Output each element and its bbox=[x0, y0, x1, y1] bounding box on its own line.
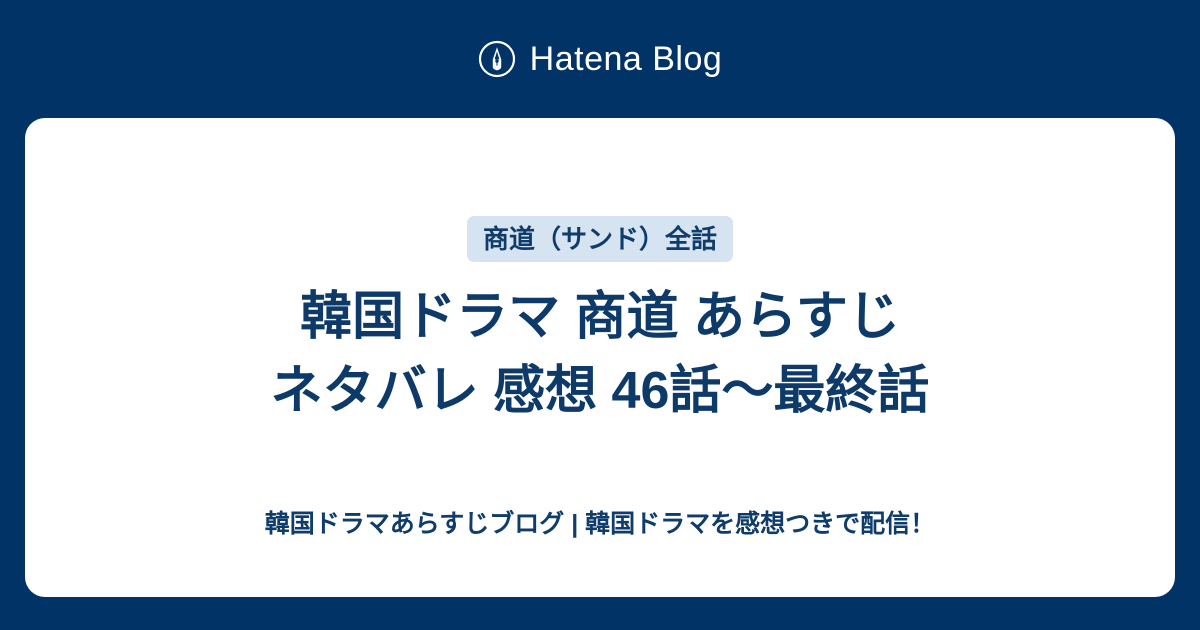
hatena-blog-og-card: Hatena Blog 商道（サンド）全話 韓国ドラマ 商道 あらすじ ネタバレ… bbox=[0, 0, 1200, 630]
brand-header: Hatena Blog bbox=[0, 0, 1200, 118]
blog-name[interactable]: 韓国ドラマあらすじブログ | 韓国ドラマを感想つきで配信！ bbox=[25, 508, 1175, 540]
entry-title-line-1: 韓国ドラマ 商道 あらすじ bbox=[65, 280, 1135, 354]
entry-title: 韓国ドラマ 商道 あらすじ ネタバレ 感想 46話～最終話 bbox=[25, 280, 1175, 428]
hatena-pen-nib-icon bbox=[478, 40, 516, 78]
entry-title-line-2: ネタバレ 感想 46話～最終話 bbox=[65, 354, 1135, 428]
brand-name: Hatena Blog bbox=[530, 40, 723, 78]
category-badge[interactable]: 商道（サンド）全話 bbox=[467, 216, 733, 262]
entry-card: 商道（サンド）全話 韓国ドラマ 商道 あらすじ ネタバレ 感想 46話～最終話 … bbox=[25, 118, 1175, 597]
